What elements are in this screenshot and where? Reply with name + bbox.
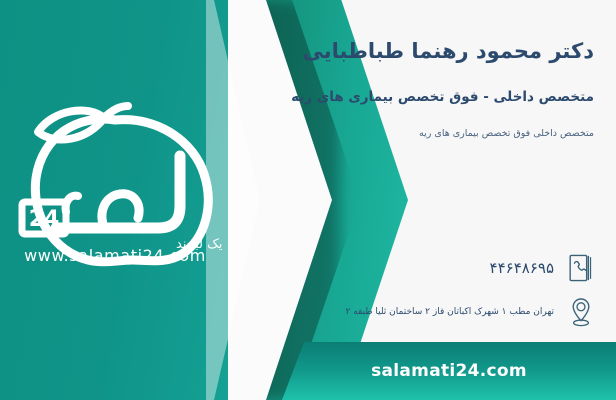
phone-contact-row[interactable]: ۴۴۶۴۸۶۹۵	[490, 248, 598, 288]
footer-bar[interactable]: salamati24.com	[282, 342, 616, 400]
footer-website: salamati24.com	[371, 361, 527, 381]
doctor-name: دکتر محمود رهنما طباطبایی	[264, 38, 594, 65]
doctor-specialty: متخصص داخلی - فوق تخصص بیماری های ریه	[254, 88, 594, 107]
phone-book-icon	[564, 248, 598, 288]
business-card: 24 برای یک لبخند www.salamati24.com دکتر…	[0, 0, 616, 400]
clinic-address: تهران مطب ۱ شهرک اکباتان فاز ۲ ساختمان ث…	[346, 306, 564, 319]
svg-text:24: 24	[29, 207, 60, 232]
doctor-specialty-secondary: متخصص داخلی فوق تخصص بیماری های ریه	[254, 127, 594, 140]
address-contact-row[interactable]: تهران مطب ۱ شهرک اکباتان فاز ۲ ساختمان ث…	[346, 292, 598, 332]
logo-website-url: www.salamati24.com	[10, 246, 220, 265]
map-pin-icon	[564, 292, 598, 332]
phone-number: ۴۴۶۴۸۶۹۵	[490, 259, 564, 277]
